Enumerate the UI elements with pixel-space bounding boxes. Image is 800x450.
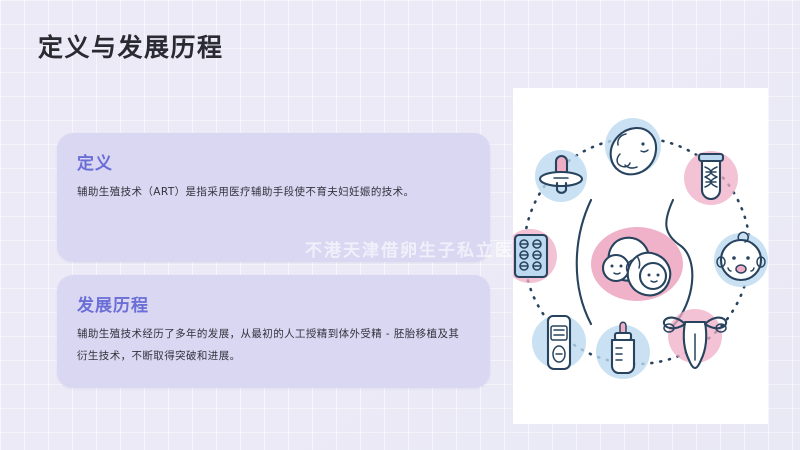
card-definition-heading: 定义 <box>77 149 113 174</box>
pill-blister-icon <box>513 229 557 283</box>
page-title: 定义与发展历程 <box>38 28 224 64</box>
twin-babies-in-womb <box>591 227 683 301</box>
card-definition-body: 辅助生殖技术（ART）是指采用医疗辅助手段使不育夫妇妊娠的技术。 <box>77 181 470 203</box>
card-history-heading: 发展历程 <box>77 291 149 316</box>
card-history: 发展历程 辅助生殖技术经历了多年的发展，从最初的人工授精到体外受精 - 胚胎移植… <box>57 275 490 388</box>
pacifier-icon <box>535 150 587 202</box>
baby-b <box>627 253 671 296</box>
illustration-panel: .ln{fill:none;stroke:#27435e;stroke-widt… <box>513 88 768 424</box>
card-history-body: 辅助生殖技术经历了多年的发展，从最初的人工授精到体外受精 - 胚胎移植及其衍生技… <box>77 323 470 367</box>
card-definition: 定义 辅助生殖技术（ART）是指采用医疗辅助手段使不育夫妇妊娠的技术。 <box>57 133 490 262</box>
fertility-journey-illustration: .ln{fill:none;stroke:#27435e;stroke-widt… <box>513 88 768 424</box>
baby-bottle-icon <box>596 322 650 379</box>
uterus-icon <box>664 309 726 368</box>
fetus-icon <box>605 118 661 174</box>
dna-test-tube-icon <box>684 151 738 205</box>
baby-face-icon <box>714 232 768 287</box>
pregnancy-test-icon <box>532 315 586 369</box>
